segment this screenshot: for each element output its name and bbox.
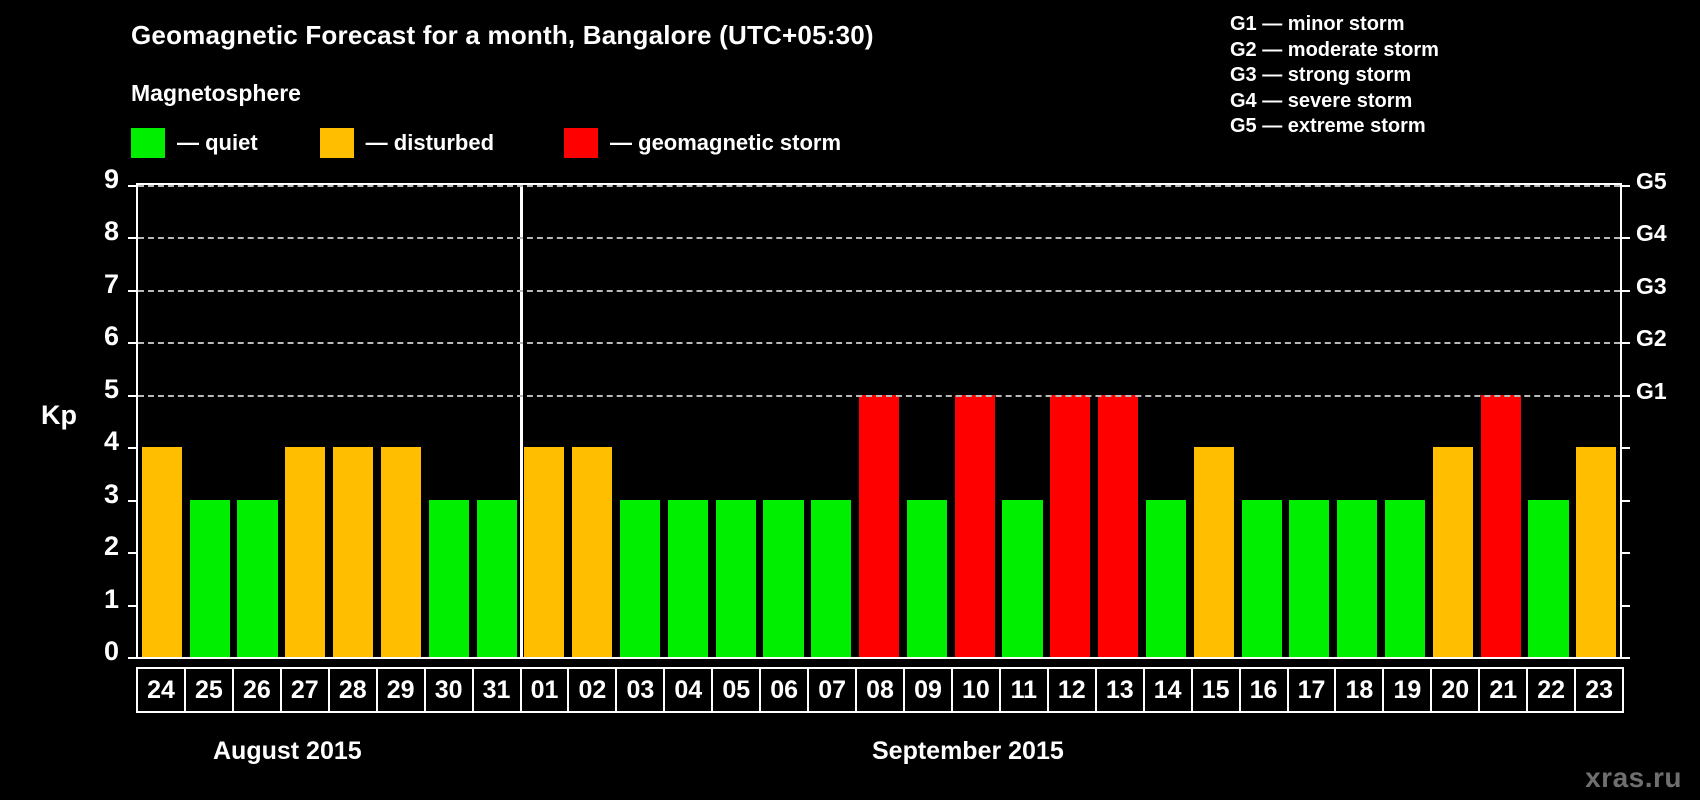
y-tick-label-1: 1 (73, 584, 119, 615)
bar-slot-15[interactable] (1190, 185, 1238, 657)
bar-slot-06[interactable] (760, 185, 808, 657)
bar-29[interactable] (381, 447, 421, 657)
month-divider (520, 185, 523, 657)
bar-18[interactable] (1337, 500, 1377, 657)
date-label-04[interactable]: 04 (663, 667, 713, 713)
bar-slot-08[interactable] (855, 185, 903, 657)
y-tick-l-6 (128, 342, 138, 344)
date-label-05[interactable]: 05 (711, 667, 761, 713)
bar-slot-13[interactable] (1094, 185, 1142, 657)
bar-slot-26[interactable] (234, 185, 282, 657)
g-axis-label-G4: G4 (1636, 220, 1696, 247)
legend-item-disturbed: — disturbed (320, 128, 494, 158)
g-axis-label-G1: G1 (1636, 378, 1696, 405)
y-tick-label-9: 9 (73, 164, 119, 195)
y-tick-label-3: 3 (73, 479, 119, 510)
date-label-22[interactable]: 22 (1526, 667, 1576, 713)
date-label-26[interactable]: 26 (232, 667, 282, 713)
legend: — quiet — disturbed — geomagnetic storm (131, 128, 841, 158)
g-axis-label-G3: G3 (1636, 273, 1696, 300)
gridline-kp-7 (138, 290, 1620, 292)
bar-07[interactable] (811, 500, 851, 657)
bar-20[interactable] (1433, 447, 1473, 657)
bar-series (138, 185, 1620, 657)
bar-12[interactable] (1050, 395, 1090, 657)
bar-slot-11[interactable] (999, 185, 1047, 657)
date-label-13[interactable]: 13 (1095, 667, 1145, 713)
bar-slot-10[interactable] (951, 185, 999, 657)
bar-06[interactable] (763, 500, 803, 657)
month-label-left: August 2015 (213, 737, 362, 766)
date-label-15[interactable]: 15 (1191, 667, 1241, 713)
bar-slot-05[interactable] (712, 185, 760, 657)
legend-item-storm: — geomagnetic storm (564, 128, 841, 158)
legend-item-quiet: — quiet (131, 128, 258, 158)
date-label-18[interactable]: 18 (1334, 667, 1384, 713)
y-tick-label-5: 5 (73, 374, 119, 405)
date-label-08[interactable]: 08 (855, 667, 905, 713)
y-tick-l-0 (128, 657, 138, 659)
date-label-19[interactable]: 19 (1382, 667, 1432, 713)
bar-slot-25[interactable] (186, 185, 234, 657)
date-label-09[interactable]: 09 (903, 667, 953, 713)
y-tick-r-1 (1620, 605, 1630, 607)
bar-slot-23[interactable] (1572, 185, 1620, 657)
y-tick-l-8 (128, 237, 138, 239)
g-scale-line-2: G2 — moderate storm (1230, 38, 1439, 64)
bar-slot-18[interactable] (1333, 185, 1381, 657)
bar-02[interactable] (572, 447, 612, 657)
bar-slot-03[interactable] (616, 185, 664, 657)
date-label-23[interactable]: 23 (1574, 667, 1624, 713)
g-scale-line-5: G5 — extreme storm (1230, 114, 1439, 140)
y-tick-label-4: 4 (73, 426, 119, 457)
bar-slot-02[interactable] (568, 185, 616, 657)
y-tick-l-2 (128, 552, 138, 554)
month-label-right: September 2015 (872, 737, 1064, 766)
bar-03[interactable] (620, 500, 660, 657)
page-title: Geomagnetic Forecast for a month, Bangal… (131, 20, 874, 51)
date-label-31[interactable]: 31 (472, 667, 522, 713)
bar-04[interactable] (668, 500, 708, 657)
bar-slot-20[interactable] (1429, 185, 1477, 657)
bar-19[interactable] (1385, 500, 1425, 657)
bar-24[interactable] (142, 447, 182, 657)
bar-slot-22[interactable] (1525, 185, 1573, 657)
y-axis-title: Kp (41, 400, 77, 431)
bar-slot-14[interactable] (1142, 185, 1190, 657)
y-tick-r-2 (1620, 552, 1630, 554)
date-label-30[interactable]: 30 (424, 667, 474, 713)
bar-16[interactable] (1242, 500, 1282, 657)
y-tick-r-5 (1620, 395, 1630, 397)
bar-05[interactable] (716, 500, 756, 657)
g-scale-line-3: G3 — strong storm (1230, 63, 1439, 89)
bar-13[interactable] (1098, 395, 1138, 657)
bar-26[interactable] (237, 500, 277, 657)
gridline-kp-5 (138, 395, 1620, 397)
date-label-01[interactable]: 01 (520, 667, 570, 713)
gridline-kp-8 (138, 237, 1620, 239)
date-label-29[interactable]: 29 (376, 667, 426, 713)
date-label-06[interactable]: 06 (759, 667, 809, 713)
bar-10[interactable] (955, 395, 995, 657)
bar-slot-17[interactable] (1286, 185, 1334, 657)
gridline-kp-6 (138, 342, 1620, 344)
y-tick-r-3 (1620, 500, 1630, 502)
g-axis-label-G5: G5 (1636, 168, 1696, 195)
y-tick-l-5 (128, 395, 138, 397)
date-label-21[interactable]: 21 (1478, 667, 1528, 713)
g-axis-label-G2: G2 (1636, 325, 1696, 352)
legend-label-storm: — geomagnetic storm (610, 130, 841, 156)
y-tick-r-0 (1620, 657, 1630, 659)
bar-slot-01[interactable] (521, 185, 569, 657)
y-tick-label-2: 2 (73, 531, 119, 562)
legend-swatch-storm (564, 128, 598, 158)
bar-22[interactable] (1528, 500, 1568, 657)
bar-15[interactable] (1194, 447, 1234, 657)
date-label-02[interactable]: 02 (567, 667, 617, 713)
bar-slot-16[interactable] (1238, 185, 1286, 657)
chart-plot-area (136, 183, 1622, 659)
bar-slot-09[interactable] (903, 185, 951, 657)
bar-08[interactable] (859, 395, 899, 657)
magnetosphere-label: Magnetosphere (131, 80, 301, 107)
date-label-12[interactable]: 12 (1047, 667, 1097, 713)
g-scale-line-1: G1 — minor storm (1230, 12, 1439, 38)
bar-17[interactable] (1289, 500, 1329, 657)
gridline-kp-9 (138, 185, 1620, 187)
y-tick-r-7 (1620, 290, 1630, 292)
date-label-25[interactable]: 25 (184, 667, 234, 713)
bar-27[interactable] (285, 447, 325, 657)
y-tick-r-6 (1620, 342, 1630, 344)
date-label-16[interactable]: 16 (1239, 667, 1289, 713)
bar-28[interactable] (333, 447, 373, 657)
date-label-07[interactable]: 07 (807, 667, 857, 713)
date-label-10[interactable]: 10 (951, 667, 1001, 713)
date-label-17[interactable]: 17 (1287, 667, 1337, 713)
legend-label-quiet: — quiet (177, 130, 258, 156)
g-scale-legend: G1 — minor stormG2 — moderate stormG3 — … (1230, 12, 1439, 140)
date-label-20[interactable]: 20 (1430, 667, 1480, 713)
y-tick-l-1 (128, 605, 138, 607)
date-label-24[interactable]: 24 (136, 667, 186, 713)
y-tick-l-9 (128, 185, 138, 187)
date-label-27[interactable]: 27 (280, 667, 330, 713)
bar-slot-19[interactable] (1381, 185, 1429, 657)
date-label-14[interactable]: 14 (1143, 667, 1193, 713)
bar-23[interactable] (1576, 447, 1616, 657)
bar-slot-27[interactable] (281, 185, 329, 657)
bar-slot-28[interactable] (329, 185, 377, 657)
bar-slot-24[interactable] (138, 185, 186, 657)
bar-25[interactable] (190, 500, 230, 657)
bar-slot-29[interactable] (377, 185, 425, 657)
legend-swatch-quiet (131, 128, 165, 158)
bar-09[interactable] (907, 500, 947, 657)
y-tick-r-8 (1620, 237, 1630, 239)
bar-14[interactable] (1146, 500, 1186, 657)
bar-11[interactable] (1002, 500, 1042, 657)
legend-label-disturbed: — disturbed (366, 130, 494, 156)
bar-slot-31[interactable] (473, 185, 521, 657)
bar-slot-30[interactable] (425, 185, 473, 657)
bar-slot-21[interactable] (1477, 185, 1525, 657)
legend-swatch-disturbed (320, 128, 354, 158)
y-tick-r-9 (1620, 185, 1630, 187)
date-label-03[interactable]: 03 (615, 667, 665, 713)
bar-slot-07[interactable] (807, 185, 855, 657)
y-tick-l-7 (128, 290, 138, 292)
y-tick-label-6: 6 (73, 321, 119, 352)
bar-21[interactable] (1481, 395, 1521, 657)
bar-31[interactable] (477, 500, 517, 657)
g-scale-line-4: G4 — severe storm (1230, 89, 1439, 115)
watermark: xras.ru (1585, 762, 1682, 794)
date-label-11[interactable]: 11 (999, 667, 1049, 713)
date-axis: 2425262728293031010203040506070809101112… (136, 667, 1622, 713)
y-tick-label-8: 8 (73, 216, 119, 247)
y-tick-label-7: 7 (73, 269, 119, 300)
bar-30[interactable] (429, 500, 469, 657)
y-tick-r-4 (1620, 447, 1630, 449)
y-tick-l-4 (128, 447, 138, 449)
y-tick-label-0: 0 (73, 636, 119, 667)
date-label-28[interactable]: 28 (328, 667, 378, 713)
bar-slot-12[interactable] (1046, 185, 1094, 657)
bar-01[interactable] (524, 447, 564, 657)
bar-slot-04[interactable] (664, 185, 712, 657)
y-tick-l-3 (128, 500, 138, 502)
